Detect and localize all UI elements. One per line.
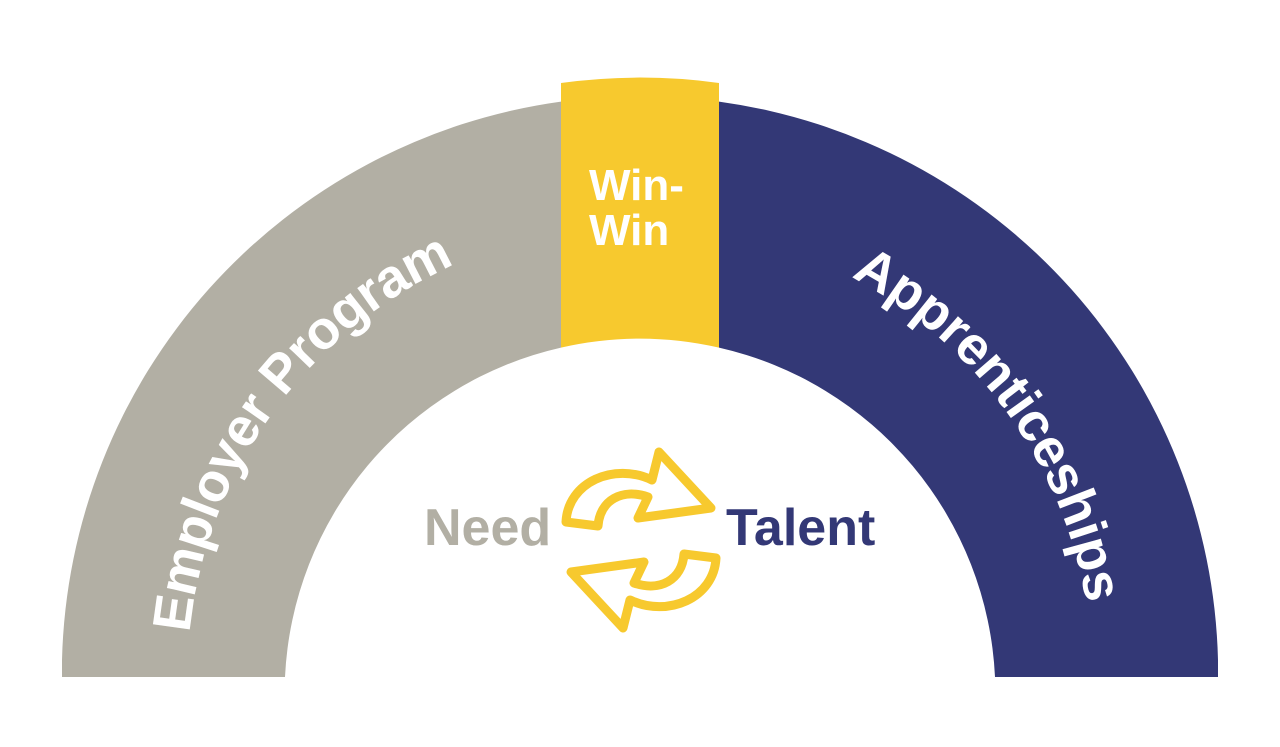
- segment-win-win-label: Win- Win: [589, 163, 684, 254]
- need-label: Need: [424, 502, 551, 554]
- segment-employer-program[interactable]: Employer Program: [62, 102, 561, 677]
- exchange-arrow-upper: [566, 452, 711, 526]
- segment-apprenticeships[interactable]: Apprenticeships: [719, 102, 1218, 677]
- segment-employer-program-band: [62, 102, 561, 677]
- arc-diagram: Employer Program Apprenticeships Win- Wi…: [0, 0, 1280, 747]
- exchange-arrow-lower: [571, 554, 716, 628]
- segment-apprenticeships-band: [719, 102, 1218, 677]
- talent-label: Talent: [726, 502, 875, 554]
- two-way-exchange-arrows-icon: [556, 440, 726, 645]
